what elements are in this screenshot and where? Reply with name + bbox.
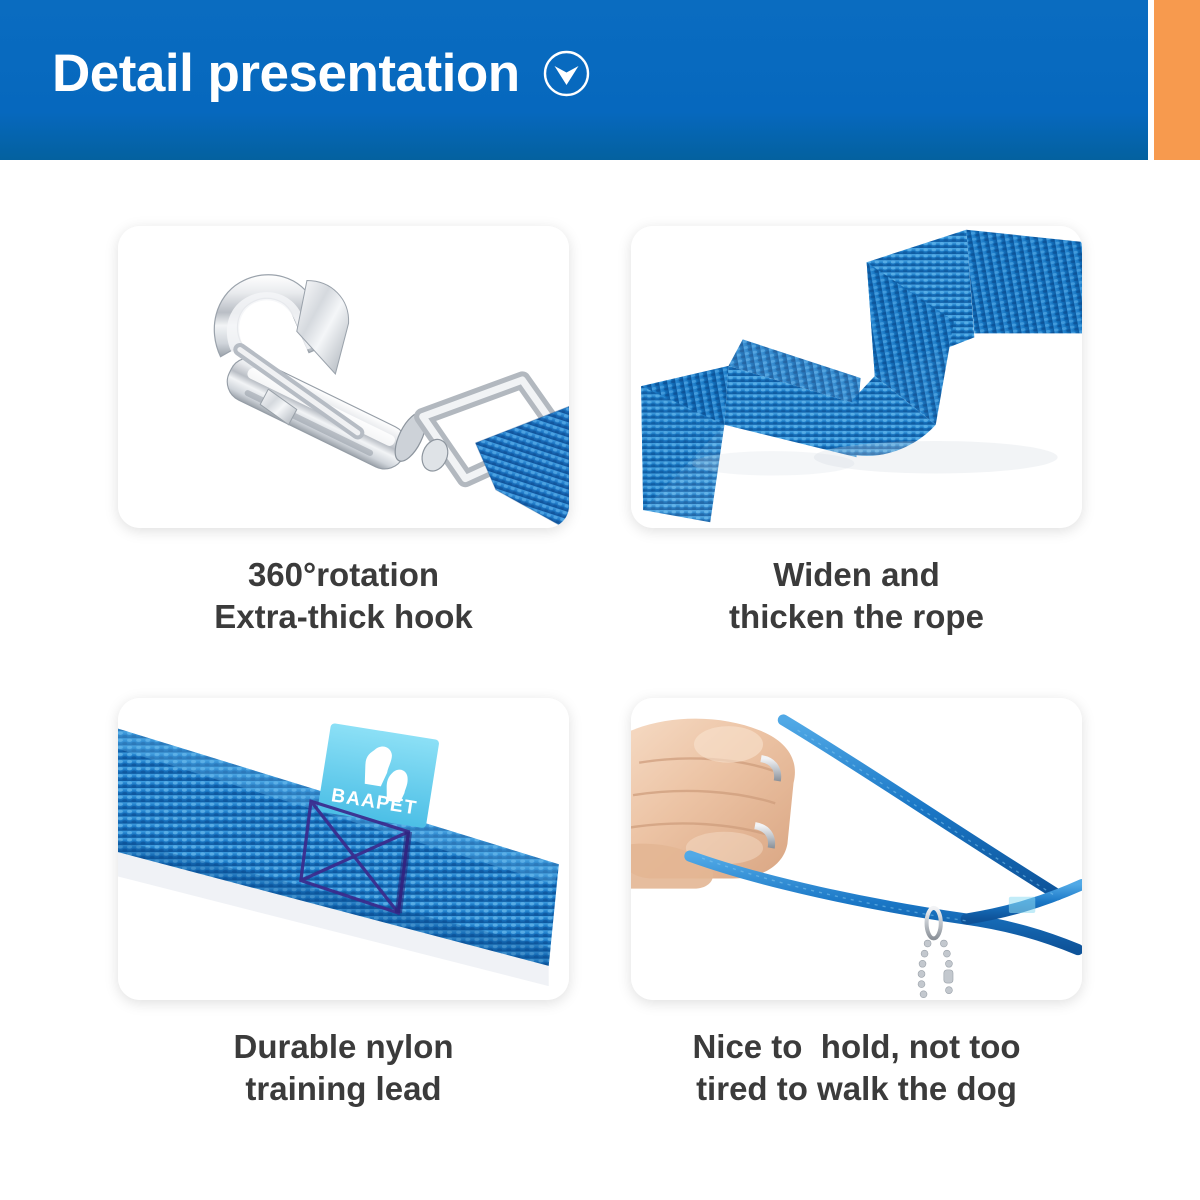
header-accent-bar [1154,0,1200,160]
photo-card-hook[interactable] [118,226,569,528]
feature-cell-handle: Nice to hold, not too tired to walk the … [631,698,1082,1160]
feature-cell-webbing: Widen and thicken the rope [631,226,1082,688]
page-title: Detail presentation [52,47,520,100]
caption-handle-line2: tired to walk the dog [696,1070,1017,1107]
photo-card-handle[interactable] [631,698,1082,1000]
caption-handle-line1: Nice to hold, not too [692,1028,1020,1065]
photo-card-webbing[interactable] [631,226,1082,528]
caption-handle: Nice to hold, not too tired to walk the … [692,1026,1020,1110]
caption-stitch-line1: Durable nylon [233,1028,453,1065]
feature-cell-hook: 360°rotation Extra-thick hook [118,226,569,688]
chevron-down-circle-icon[interactable] [542,49,591,98]
feature-grid: 360°rotation Extra-thick hook [0,160,1200,1200]
feature-cell-stitch: BAAPET Durable nylon training lead [118,698,569,1160]
caption-hook-line2: Extra-thick hook [214,598,473,635]
caption-stitch-line2: training lead [245,1070,441,1107]
caption-hook: 360°rotation Extra-thick hook [214,554,473,638]
caption-hook-line1: 360°rotation [248,556,439,593]
caption-stitch: Durable nylon training lead [233,1026,453,1110]
caption-webbing: Widen and thicken the rope [729,554,984,638]
caption-webbing-line1: Widen and [773,556,940,593]
photo-card-stitch[interactable]: BAAPET [118,698,569,1000]
caption-webbing-line2: thicken the rope [729,598,984,635]
header-title-row: Detail presentation [52,38,591,108]
detail-presentation-page: Detail presentation [0,0,1200,1200]
